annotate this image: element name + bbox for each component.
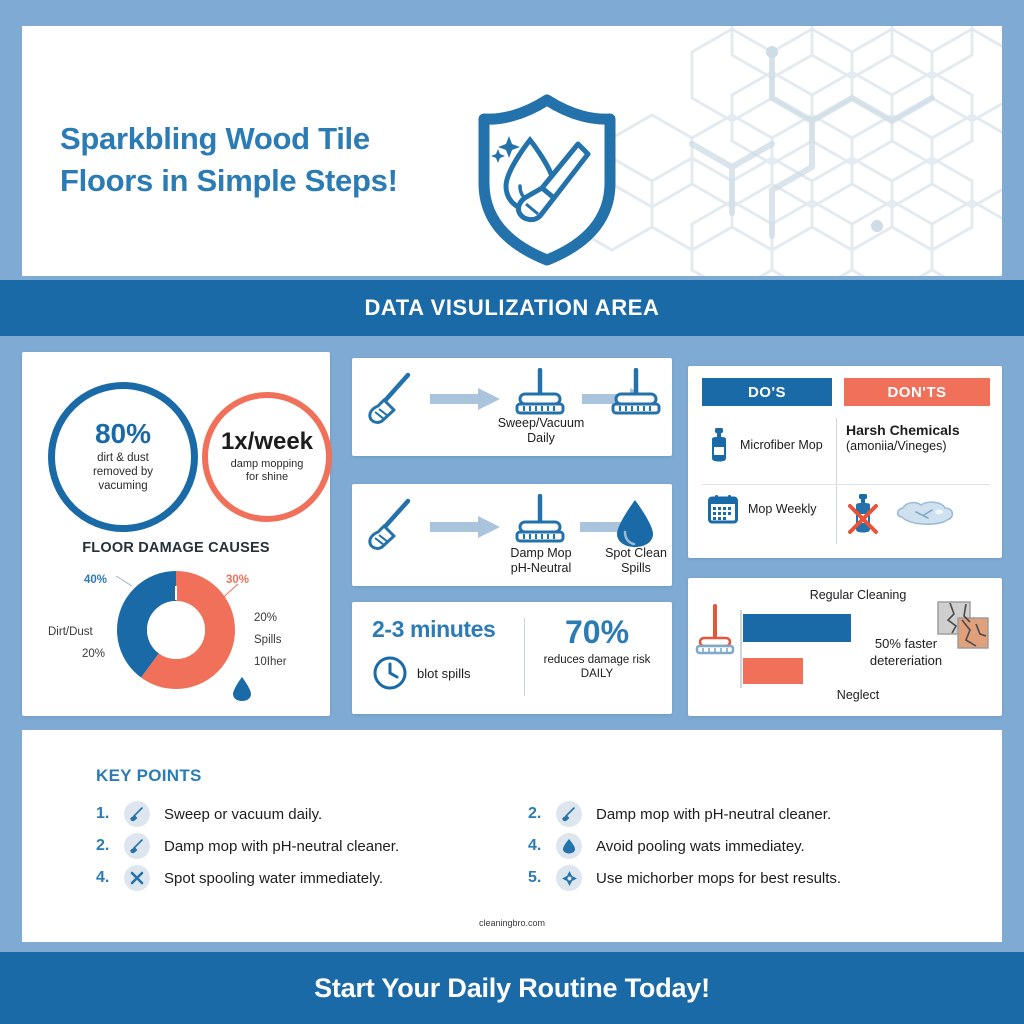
- donut-label-red-pct: 30%: [226, 574, 249, 586]
- item-number: 2.: [528, 805, 556, 823]
- bar-label-regular-cleaning: Regular Cleaning: [768, 588, 948, 602]
- donut-label-left-pct: 20%: [82, 648, 105, 660]
- bar-neglect: [743, 658, 803, 684]
- mop-red-icon: [694, 604, 736, 662]
- donut-chart: 40% 30% Dirt/Dust 20% 20% Spills 10Iher: [22, 564, 330, 714]
- time-caption: blot spills: [417, 666, 470, 681]
- page-title: Sparkbling Wood Tile Floors in Simple St…: [60, 118, 480, 202]
- bottle-crossed-icon: [846, 492, 880, 536]
- water-drop-icon: [556, 833, 582, 859]
- donts-item-title: Harsh Chemicals: [846, 422, 994, 439]
- donts-item-subtitle: (amoniia/Vineges): [846, 439, 994, 454]
- mop-icon: [608, 368, 664, 418]
- annotation-line-2: detereriation: [854, 653, 958, 670]
- footer-banner: Start Your Daily Routine Today!: [0, 952, 1024, 1024]
- footer-cta: Start Your Daily Routine Today!: [314, 973, 710, 1004]
- broom-icon: [368, 372, 416, 424]
- stat-value-80: 80%: [95, 420, 151, 448]
- caption-line-1: reduces damage risk: [534, 654, 660, 668]
- broom-icon: [556, 801, 582, 827]
- stats-card: 80% dirt & dust removed by vacuming 1x/w…: [22, 352, 330, 716]
- caption-line-2: Daily: [476, 431, 606, 446]
- caption-line-2: Spills: [590, 561, 682, 576]
- list-item: 4. Spot spooling water immediately.: [96, 862, 526, 894]
- stat-circle-mopping: 1x/week damp mopping for shine: [202, 392, 332, 522]
- clock-icon: [372, 655, 408, 691]
- percent-value: 70%: [534, 616, 660, 648]
- banner-label: DATA VISULIZATION AREA: [364, 295, 659, 321]
- flow-card-sweep: Sweep/Vacuum Daily: [352, 358, 672, 456]
- donts-header: DON'TS: [844, 378, 990, 406]
- list-item: 2. Damp mop with pH-neutral cleaner.: [96, 830, 526, 862]
- stat-circles: 80% dirt & dust removed by vacuming 1x/w…: [22, 376, 330, 536]
- arrow-right-icon: [430, 516, 502, 538]
- hexagon-pattern-icon: [582, 26, 1002, 276]
- donut-label-dirt-dust: Dirt/Dust: [48, 626, 93, 638]
- bar-chart-card: Regular Cleaning Neglect 50% faster dete…: [688, 578, 1002, 716]
- microfiber-icon: [556, 865, 582, 891]
- stat-caption-vacuum: dirt & dust removed by vacuming: [93, 452, 153, 493]
- bar-label-neglect: Neglect: [768, 688, 948, 702]
- item-number: 4.: [528, 837, 556, 855]
- flow-caption-spot-clean: Spot Clean Spills: [590, 546, 682, 576]
- donut-label-right-pct: 20%: [254, 612, 277, 624]
- title-line-2: Floors in Simple Steps!: [60, 160, 480, 202]
- caption-line-2: for shine: [231, 471, 304, 484]
- section-banner: DATA VISULIZATION AREA: [0, 280, 1024, 336]
- key-points-left-column: 1. Sweep or vacuum daily. 2. Damp mop wi…: [96, 798, 526, 894]
- flow-row: Damp Mop pH-Neutral Spot Clean Spills: [352, 484, 672, 586]
- time-value: 2-3 minutes: [372, 616, 524, 643]
- item-number: 2.: [96, 837, 124, 855]
- time-caption-row: blot spills: [372, 655, 524, 691]
- bar-regular-cleaning: [743, 614, 851, 642]
- caption-line-2: removed by: [93, 466, 153, 480]
- item-text: Use michorber mops for best results.: [596, 870, 841, 887]
- cracked-tile-icon: [936, 600, 990, 652]
- caption-line-2: DAILY: [534, 668, 660, 682]
- donut-label-other: 10Iher: [254, 656, 287, 668]
- list-item: 5. Use michorber mops for best results.: [528, 862, 958, 894]
- caption-line-1: Spot Clean: [590, 546, 682, 561]
- caption-line-1: damp mopping: [231, 458, 304, 471]
- caption-line-1: Sweep/Vacuum: [476, 416, 606, 431]
- key-points-right-column: 2. Damp mop with pH-neutral cleaner. 4. …: [528, 798, 958, 894]
- broom-icon: [368, 498, 416, 550]
- item-text: Damp mop with pH-neutral cleaner.: [164, 838, 399, 855]
- dos-item-microfiber: Microfiber Mop: [708, 428, 823, 462]
- donts-item-icons: [846, 492, 956, 536]
- dos-item-label: Mop Weekly: [748, 502, 817, 516]
- infographic-page: Sparkbling Wood Tile Floors in Simple St…: [0, 0, 1024, 1024]
- water-drop-icon: [614, 498, 656, 548]
- bar-axis: [740, 610, 742, 688]
- broom-icon: [124, 833, 150, 859]
- donut-chart-svg: [114, 568, 238, 692]
- item-text: Damp mop with pH-neutral cleaner.: [596, 806, 831, 823]
- stat-caption-mopping: damp mopping for shine: [231, 458, 304, 484]
- water-drop-icon: [232, 676, 252, 702]
- caption-line-1: dirt & dust: [93, 452, 153, 466]
- header-panel: Sparkbling Wood Tile Floors in Simple St…: [22, 26, 1002, 276]
- donut-label-spills: Spills: [254, 634, 281, 646]
- caption-line-1: Damp Mop: [476, 546, 606, 561]
- key-points-title: KEY POINTS: [96, 766, 202, 786]
- item-text: Avoid pooling wats immediatey.: [596, 838, 805, 855]
- divider-horizontal: [702, 484, 990, 485]
- dos-donts-card: DO'S DON'TS Microfiber Mop: [688, 366, 1002, 558]
- damage-risk-stat: 70% reduces damage risk DAILY: [534, 616, 660, 682]
- stat-circle-vacuum: 80% dirt & dust removed by vacuming: [48, 382, 198, 532]
- dos-item-label: Microfiber Mop: [740, 438, 823, 452]
- calendar-icon: [708, 494, 738, 524]
- divider-vertical: [836, 418, 837, 544]
- caption-line-3: vacuming: [93, 480, 153, 494]
- item-text: Sweep or vacuum daily.: [164, 806, 322, 823]
- divider: [524, 618, 525, 696]
- caption-line-2: pH-Neutral: [476, 561, 606, 576]
- title-line-1: Sparkbling Wood Tile: [60, 121, 370, 156]
- item-number: 4.: [96, 869, 124, 887]
- donts-item-chemicals: Harsh Chemicals (amoniia/Vineges): [846, 422, 994, 454]
- list-item: 1. Sweep or vacuum daily.: [96, 798, 526, 830]
- item-text: Spot spooling water immediately.: [164, 870, 383, 887]
- stat-value-frequency: 1x/week: [221, 430, 313, 454]
- logo: [462, 88, 632, 268]
- key-points-panel: KEY POINTS 1. Sweep or vacuum daily. 2. …: [22, 730, 1002, 942]
- item-number: 1.: [96, 805, 124, 823]
- flow-row: Sweep/Vacuum Daily: [352, 358, 672, 456]
- x-mark-icon: [124, 865, 150, 891]
- arrow-right-icon: [430, 388, 502, 410]
- flow-card-damp-mop: Damp Mop pH-Neutral Spot Clean Spills: [352, 484, 672, 586]
- percent-caption: reduces damage risk DAILY: [534, 654, 660, 682]
- donut-label-blue-pct: 40%: [84, 574, 107, 586]
- flow-caption-sweep: Sweep/Vacuum Daily: [476, 416, 606, 446]
- donut-chart-title: FLOOR DAMAGE CAUSES: [22, 540, 330, 556]
- dos-header: DO'S: [702, 378, 832, 406]
- bottle-icon: [708, 428, 730, 462]
- list-item: 4. Avoid pooling wats immediatey.: [528, 830, 958, 862]
- item-number: 5.: [528, 869, 556, 887]
- list-item: 2. Damp mop with pH-neutral cleaner.: [528, 798, 958, 830]
- broom-icon: [124, 801, 150, 827]
- mop-icon: [512, 494, 568, 546]
- water-puddle-icon: [894, 499, 956, 529]
- watermark: cleaningbro.com: [22, 918, 1002, 928]
- dos-item-mop-weekly: Mop Weekly: [708, 494, 817, 524]
- mop-icon: [512, 368, 568, 418]
- shield-droplet-brush-icon: [462, 88, 632, 268]
- flow-caption-damp-mop: Damp Mop pH-Neutral: [476, 546, 606, 576]
- bar-chart: Regular Cleaning Neglect 50% faster dete…: [688, 578, 1002, 716]
- time-stats-card: 2-3 minutes blot spills 70% reduces dama…: [352, 602, 672, 714]
- blot-spills-stat: 2-3 minutes blot spills: [372, 616, 524, 691]
